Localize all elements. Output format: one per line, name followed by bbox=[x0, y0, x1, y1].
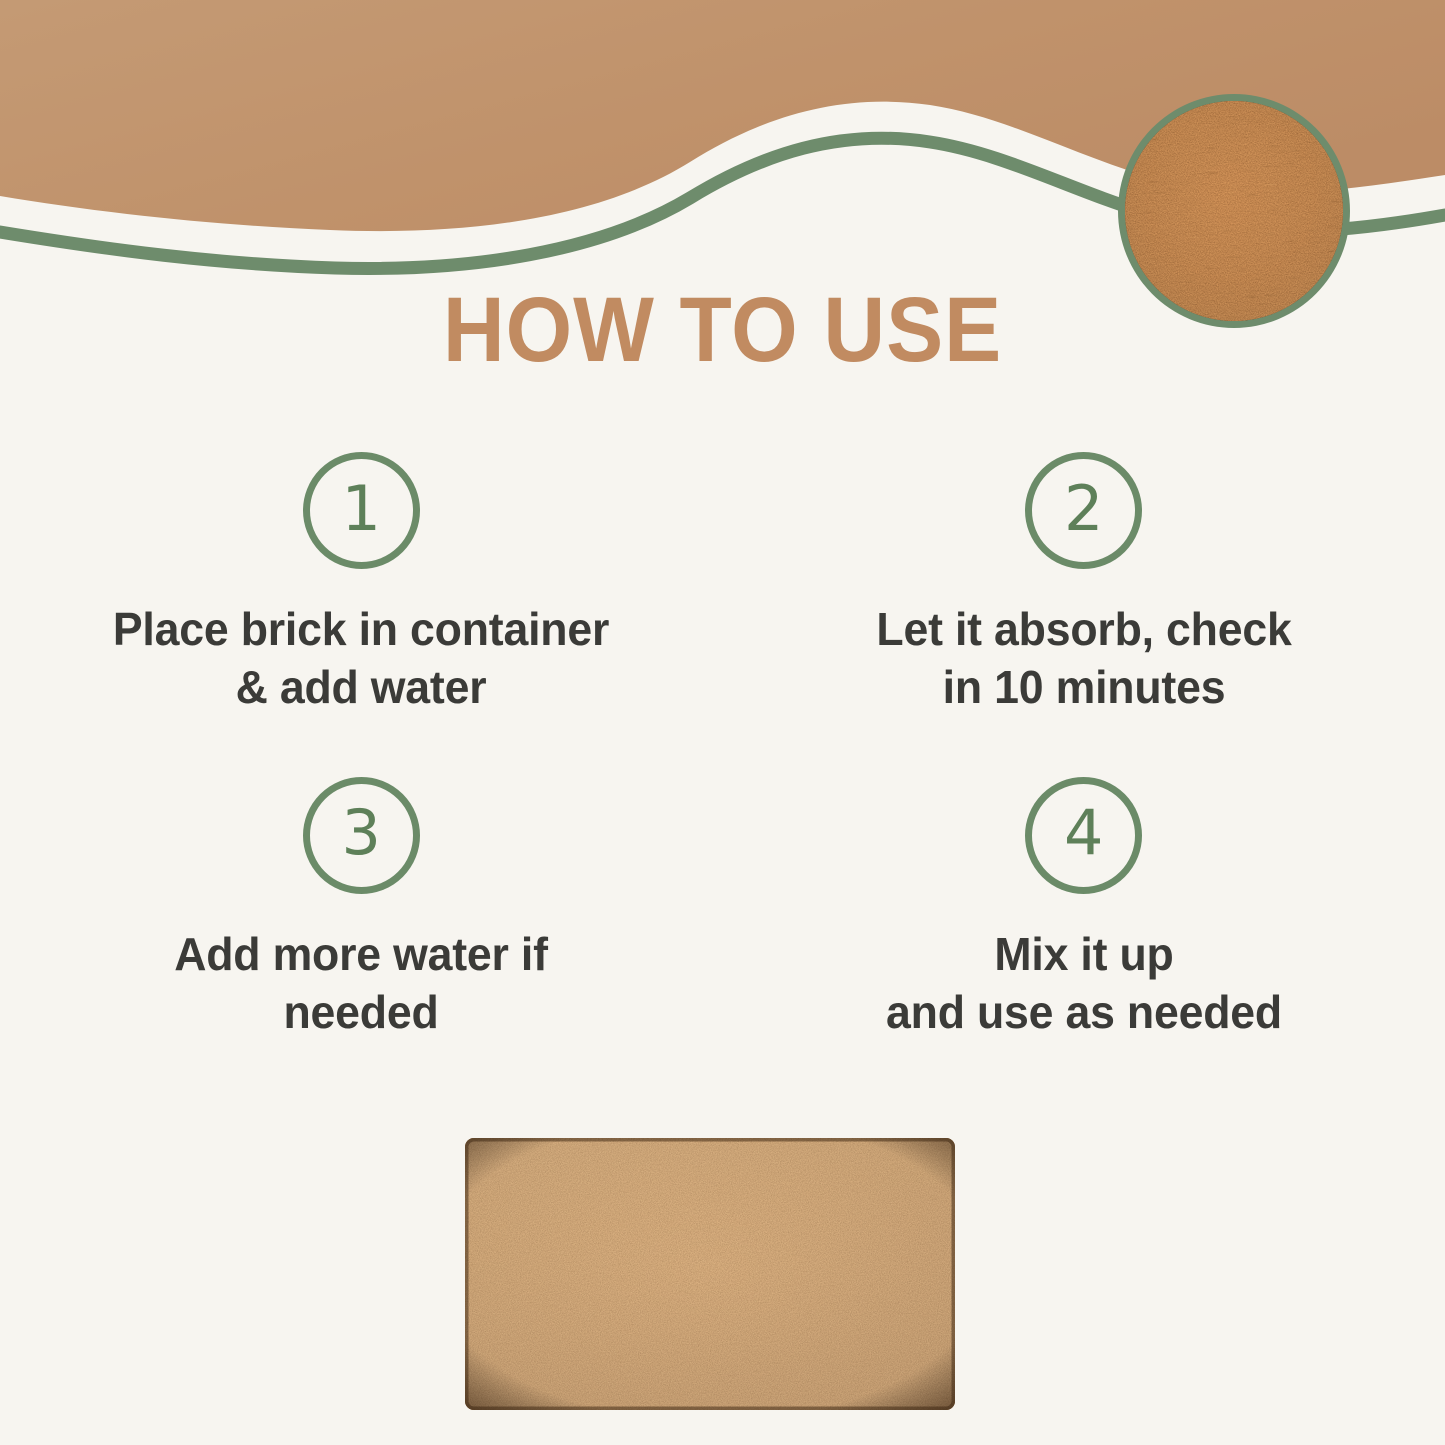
step-number-badge-4: 4 bbox=[1025, 777, 1142, 894]
step-number-1: 1 bbox=[342, 478, 381, 540]
step-label-2: Let it absorb, check in 10 minutes bbox=[783, 601, 1384, 717]
step-number-badge-1: 1 bbox=[303, 452, 420, 569]
steps-grid: 1 Place brick in container & add water 2… bbox=[0, 452, 1445, 1042]
step-item-3: 3 Add more water if needed bbox=[0, 777, 723, 1042]
step-number-4: 4 bbox=[1064, 802, 1103, 864]
brick-texture bbox=[465, 1138, 955, 1410]
brick-body bbox=[465, 1138, 955, 1410]
infographic-canvas: HOW TO USE 1 Place brick in container & … bbox=[0, 0, 1445, 1445]
step-item-4: 4 Mix it up and use as needed bbox=[723, 777, 1445, 1042]
step-number-badge-3: 3 bbox=[303, 777, 420, 894]
step-label-1: Place brick in container & add water bbox=[22, 601, 701, 717]
step-item-2: 2 Let it absorb, check in 10 minutes bbox=[723, 452, 1445, 717]
step-label-4: Mix it up and use as needed bbox=[764, 926, 1404, 1042]
step-number-2: 2 bbox=[1064, 478, 1103, 540]
coir-brick-image bbox=[465, 1138, 955, 1410]
step-item-1: 1 Place brick in container & add water bbox=[0, 452, 723, 717]
step-number-badge-2: 2 bbox=[1025, 452, 1142, 569]
page-title: HOW TO USE bbox=[51, 284, 1395, 376]
step-number-3: 3 bbox=[342, 802, 381, 864]
step-label-3: Add more water if needed bbox=[61, 926, 662, 1042]
